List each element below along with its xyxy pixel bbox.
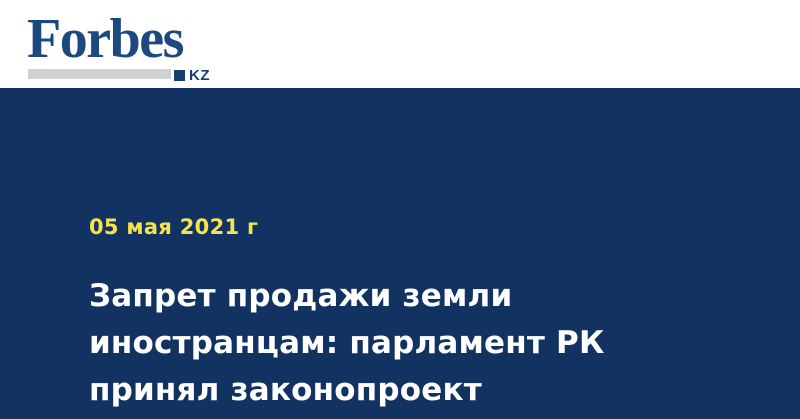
headline-line: принял законопроект xyxy=(89,367,689,414)
publication-date: 05 мая 2021 г xyxy=(89,215,258,239)
logo-kz-group: KZ xyxy=(174,68,210,83)
site-header: Forbes KZ xyxy=(0,0,800,88)
headline-line: иностранцам: парламент РК xyxy=(89,320,689,367)
logo-underline-bar xyxy=(28,69,171,79)
forbes-wordmark: Forbes xyxy=(27,11,183,67)
logo-kz-label: KZ xyxy=(189,68,210,83)
blue-square-icon xyxy=(174,70,185,81)
article-headline[interactable]: Запрет продажи земли иностранцам: парлам… xyxy=(89,273,689,414)
headline-line: Запрет продажи земли xyxy=(89,273,689,320)
hero-panel: 05 мая 2021 г Запрет продажи земли иност… xyxy=(0,88,800,419)
forbes-kz-logo[interactable]: Forbes KZ xyxy=(27,11,237,79)
article-card: Forbes KZ 05 мая 2021 г Запрет продажи з… xyxy=(0,0,800,419)
